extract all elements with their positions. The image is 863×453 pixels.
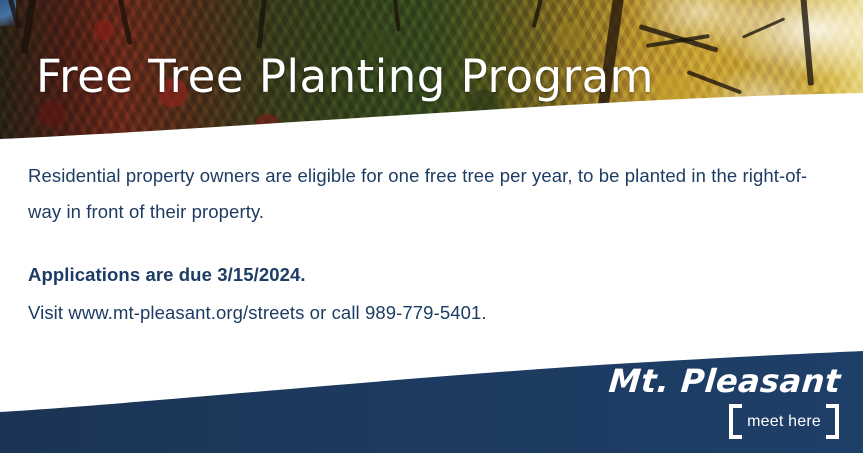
bracket-right-icon bbox=[826, 404, 839, 439]
page-title: Free Tree Planting Program bbox=[36, 50, 654, 103]
flyer-card: Free Tree Planting Program Residential p… bbox=[0, 0, 863, 453]
contact-text: Visit www.mt-pleasant.org/streets or cal… bbox=[28, 298, 828, 328]
eligibility-text: Residential property owners are eligible… bbox=[28, 158, 828, 230]
bracket-left-icon bbox=[729, 404, 742, 439]
deadline-text: Applications are due 3/15/2024. bbox=[28, 260, 828, 290]
city-logo: Mt. Pleasant meet here bbox=[609, 365, 841, 439]
logo-wordmark: Mt. Pleasant bbox=[608, 365, 842, 397]
logo-tagline-group: meet here bbox=[609, 404, 839, 439]
logo-tagline: meet here bbox=[747, 408, 821, 435]
body-copy: Residential property owners are eligible… bbox=[28, 158, 828, 328]
